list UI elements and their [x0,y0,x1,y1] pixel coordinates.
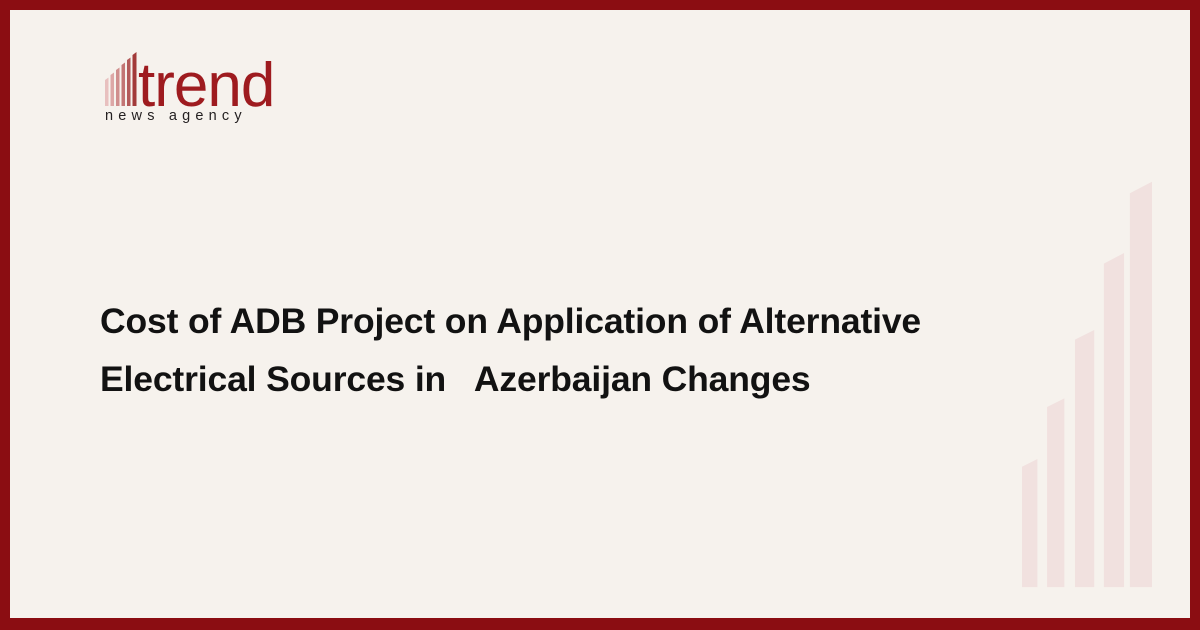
logo-tagline: news agency [105,108,247,124]
ascending-bars-mark-icon: trend [96,46,296,112]
ascending-bars-decoration [1022,170,1152,595]
card-content-area: trend trend news agency Cost of ADB Proj… [10,10,1190,618]
trend-news-agency-logo[interactable]: trend trend news agency [96,46,296,146]
social-card: trend trend news agency Cost of ADB Proj… [0,0,1200,630]
ascending-bars-decoration-icon [1022,170,1152,595]
page-title: Cost of ADB Project on Application of Al… [100,292,1010,408]
svg-text:trend: trend [138,51,274,112]
logo-mark-row: trend trend [96,46,296,112]
